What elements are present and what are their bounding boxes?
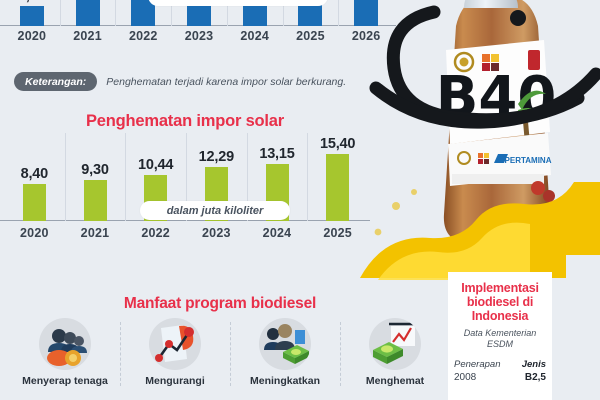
value-label-2022: 10,44 <box>125 157 186 173</box>
implementation-title-line-1: Implementasi <box>448 281 552 295</box>
green-chart-unit-note: dalam juta kiloliter <box>140 201 290 220</box>
benefit-divider <box>230 322 231 386</box>
benefit-item: Meningkatkan <box>230 318 340 387</box>
chart-penghematan-impor-solar: 202020212022202320242025 8,409,3010,4412… <box>0 133 370 243</box>
section-title-manfaat: Manfaat program biodiesel <box>0 295 440 313</box>
bar-2025 <box>326 154 349 221</box>
x-label-2024: 2024 <box>247 226 308 240</box>
table-row: 2008 B2,5 <box>454 371 546 385</box>
value-label-2024: 13,15 <box>247 146 308 162</box>
gridline <box>338 0 339 26</box>
bar-2021 <box>84 180 107 221</box>
benefit-divider <box>340 322 341 386</box>
x-label-2025: 2025 <box>307 226 368 240</box>
implementation-title-line-3: Indonesia <box>448 309 552 323</box>
implementation-subtitle: Data Kementerian ESDM <box>448 328 552 350</box>
benefit-label: Meningkatkan <box>230 375 340 387</box>
benefits-list: Menyerap tenaga Mengurangi Meningkatkan … <box>0 318 440 400</box>
benefit-divider <box>120 322 121 386</box>
keterangan-badge: Keterangan: <box>14 72 97 91</box>
page-title-penghematan-impor-solar: Penghematan impor solar <box>0 112 370 131</box>
keterangan: Keterangan: Penghematan terjadi karena i… <box>14 72 346 91</box>
implementation-table: Penerapan Jenis 2008 B2,5 <box>448 359 552 385</box>
gridline <box>115 0 116 26</box>
bar-2020 <box>23 184 46 221</box>
blue-chart-unit-note: dalam miliar dolar AS <box>148 0 328 6</box>
implementation-subtitle-line-2: ESDM <box>448 339 552 350</box>
x-label-2025: 2025 <box>283 29 339 43</box>
benefit-label: Mengurangi <box>120 375 230 387</box>
gridline <box>60 0 61 26</box>
x-label-2020: 2020 <box>4 29 60 43</box>
column-header-penerapan: Penerapan <box>454 359 500 372</box>
oil-splash-icon <box>360 180 600 285</box>
x-label-2022: 2022 <box>125 226 186 240</box>
x-label-2022: 2022 <box>115 29 171 43</box>
keterangan-text: Penghematan terjadi karena impor solar b… <box>106 76 346 88</box>
declining-chart-icon <box>149 318 201 370</box>
svg-text:PERTAMINA: PERTAMINA <box>505 156 552 165</box>
right-background-strip <box>566 255 600 400</box>
column-header-jenis: Jenis <box>522 359 546 372</box>
value-label-2025: 15,40 <box>307 136 368 152</box>
implementation-card: Implementasi biodiesel di Indonesia Data… <box>448 272 552 400</box>
benefit-label: Menghemat <box>340 375 450 387</box>
value-label-2020: 8,40 <box>4 166 65 182</box>
people-coins-icon <box>39 318 91 370</box>
x-label-2023: 2023 <box>186 226 247 240</box>
x-label-2020: 2020 <box>4 226 65 240</box>
chart-penghematan-devisa: 2020202120222023202420252026 2,77 dalam … <box>0 0 396 46</box>
benefit-item: Menyerap tenaga <box>10 318 120 387</box>
table-header-row: Penerapan Jenis <box>454 359 546 372</box>
value-label-2020: 2,77 <box>4 0 60 4</box>
benefit-label: Menyerap tenaga <box>10 375 120 387</box>
value-label-2023: 12,29 <box>186 149 247 165</box>
cell-jenis: B2,5 <box>525 371 546 385</box>
money-chart-icon <box>369 318 421 370</box>
gridline <box>125 133 126 221</box>
x-label-2023: 2023 <box>171 29 227 43</box>
bar-2021 <box>76 0 100 26</box>
x-label-2021: 2021 <box>60 29 116 43</box>
implementation-subtitle-line-1: Data Kementerian <box>448 328 552 339</box>
x-label-2021: 2021 <box>65 226 126 240</box>
benefit-item: Menghemat <box>340 318 450 387</box>
bar-2020 <box>20 6 44 26</box>
green-chart-axis <box>0 220 370 221</box>
implementation-title-line-2: biodiesel di <box>448 295 552 309</box>
implementation-title: Implementasi biodiesel di Indonesia <box>448 281 552 323</box>
benefit-item: Mengurangi <box>120 318 230 387</box>
people-money-icon <box>259 318 311 370</box>
value-label-2021: 9,30 <box>65 162 126 178</box>
x-label-2024: 2024 <box>227 29 283 43</box>
cell-penerapan: 2008 <box>454 371 476 385</box>
infographic-root: 2020202120222023202420252026 2,77 dalam … <box>0 0 600 400</box>
